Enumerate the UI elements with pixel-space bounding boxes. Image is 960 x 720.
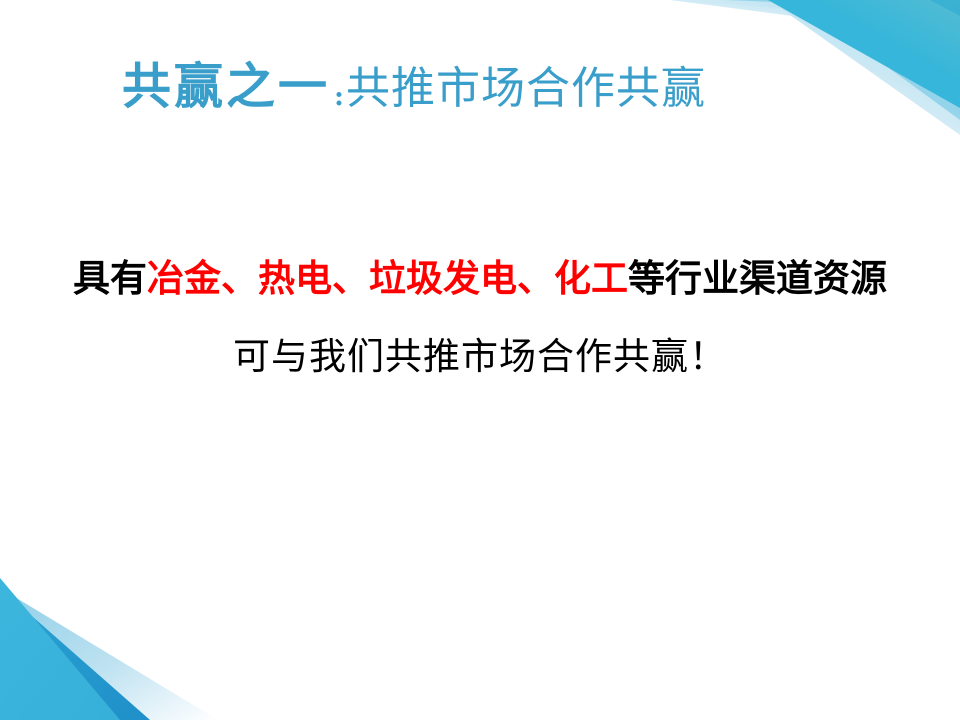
decor-shape-teal-edge bbox=[930, 0, 960, 16]
body-line-1-prefix: 具有 bbox=[73, 257, 147, 300]
body-line-1: 具有冶金、热电、垃圾发电、化工等行业渠道资源 bbox=[0, 240, 960, 318]
slide-canvas: 共赢之一:共推市场合作共赢 具有冶金、热电、垃圾发电、化工等行业渠道资源 可与我… bbox=[0, 0, 960, 720]
title-main-text: 共赢之一 bbox=[122, 57, 330, 115]
slide-body: 具有冶金、热电、垃圾发电、化工等行业渠道资源 可与我们共推市场合作共赢！ bbox=[0, 240, 960, 396]
body-line-2: 可与我们共推市场合作共赢！ bbox=[0, 318, 960, 396]
body-line-1-suffix: 等行业渠道资源 bbox=[628, 257, 887, 300]
decor-shape-deep-blue-wedge bbox=[0, 588, 150, 720]
bottom-left-decoration bbox=[0, 530, 360, 720]
slide-title: 共赢之一:共推市场合作共赢 bbox=[0, 62, 960, 111]
title-sub-text: 共推市场合作共赢 bbox=[346, 63, 706, 114]
decor-shape-pale-wedge bbox=[670, 0, 960, 38]
title-separator: : bbox=[330, 81, 346, 112]
decor-shape-teal-triangle bbox=[0, 578, 120, 720]
decor-shape-light-ribbon bbox=[0, 588, 218, 720]
body-line-1-highlight: 冶金、热电、垃圾发电、化工 bbox=[147, 257, 628, 300]
